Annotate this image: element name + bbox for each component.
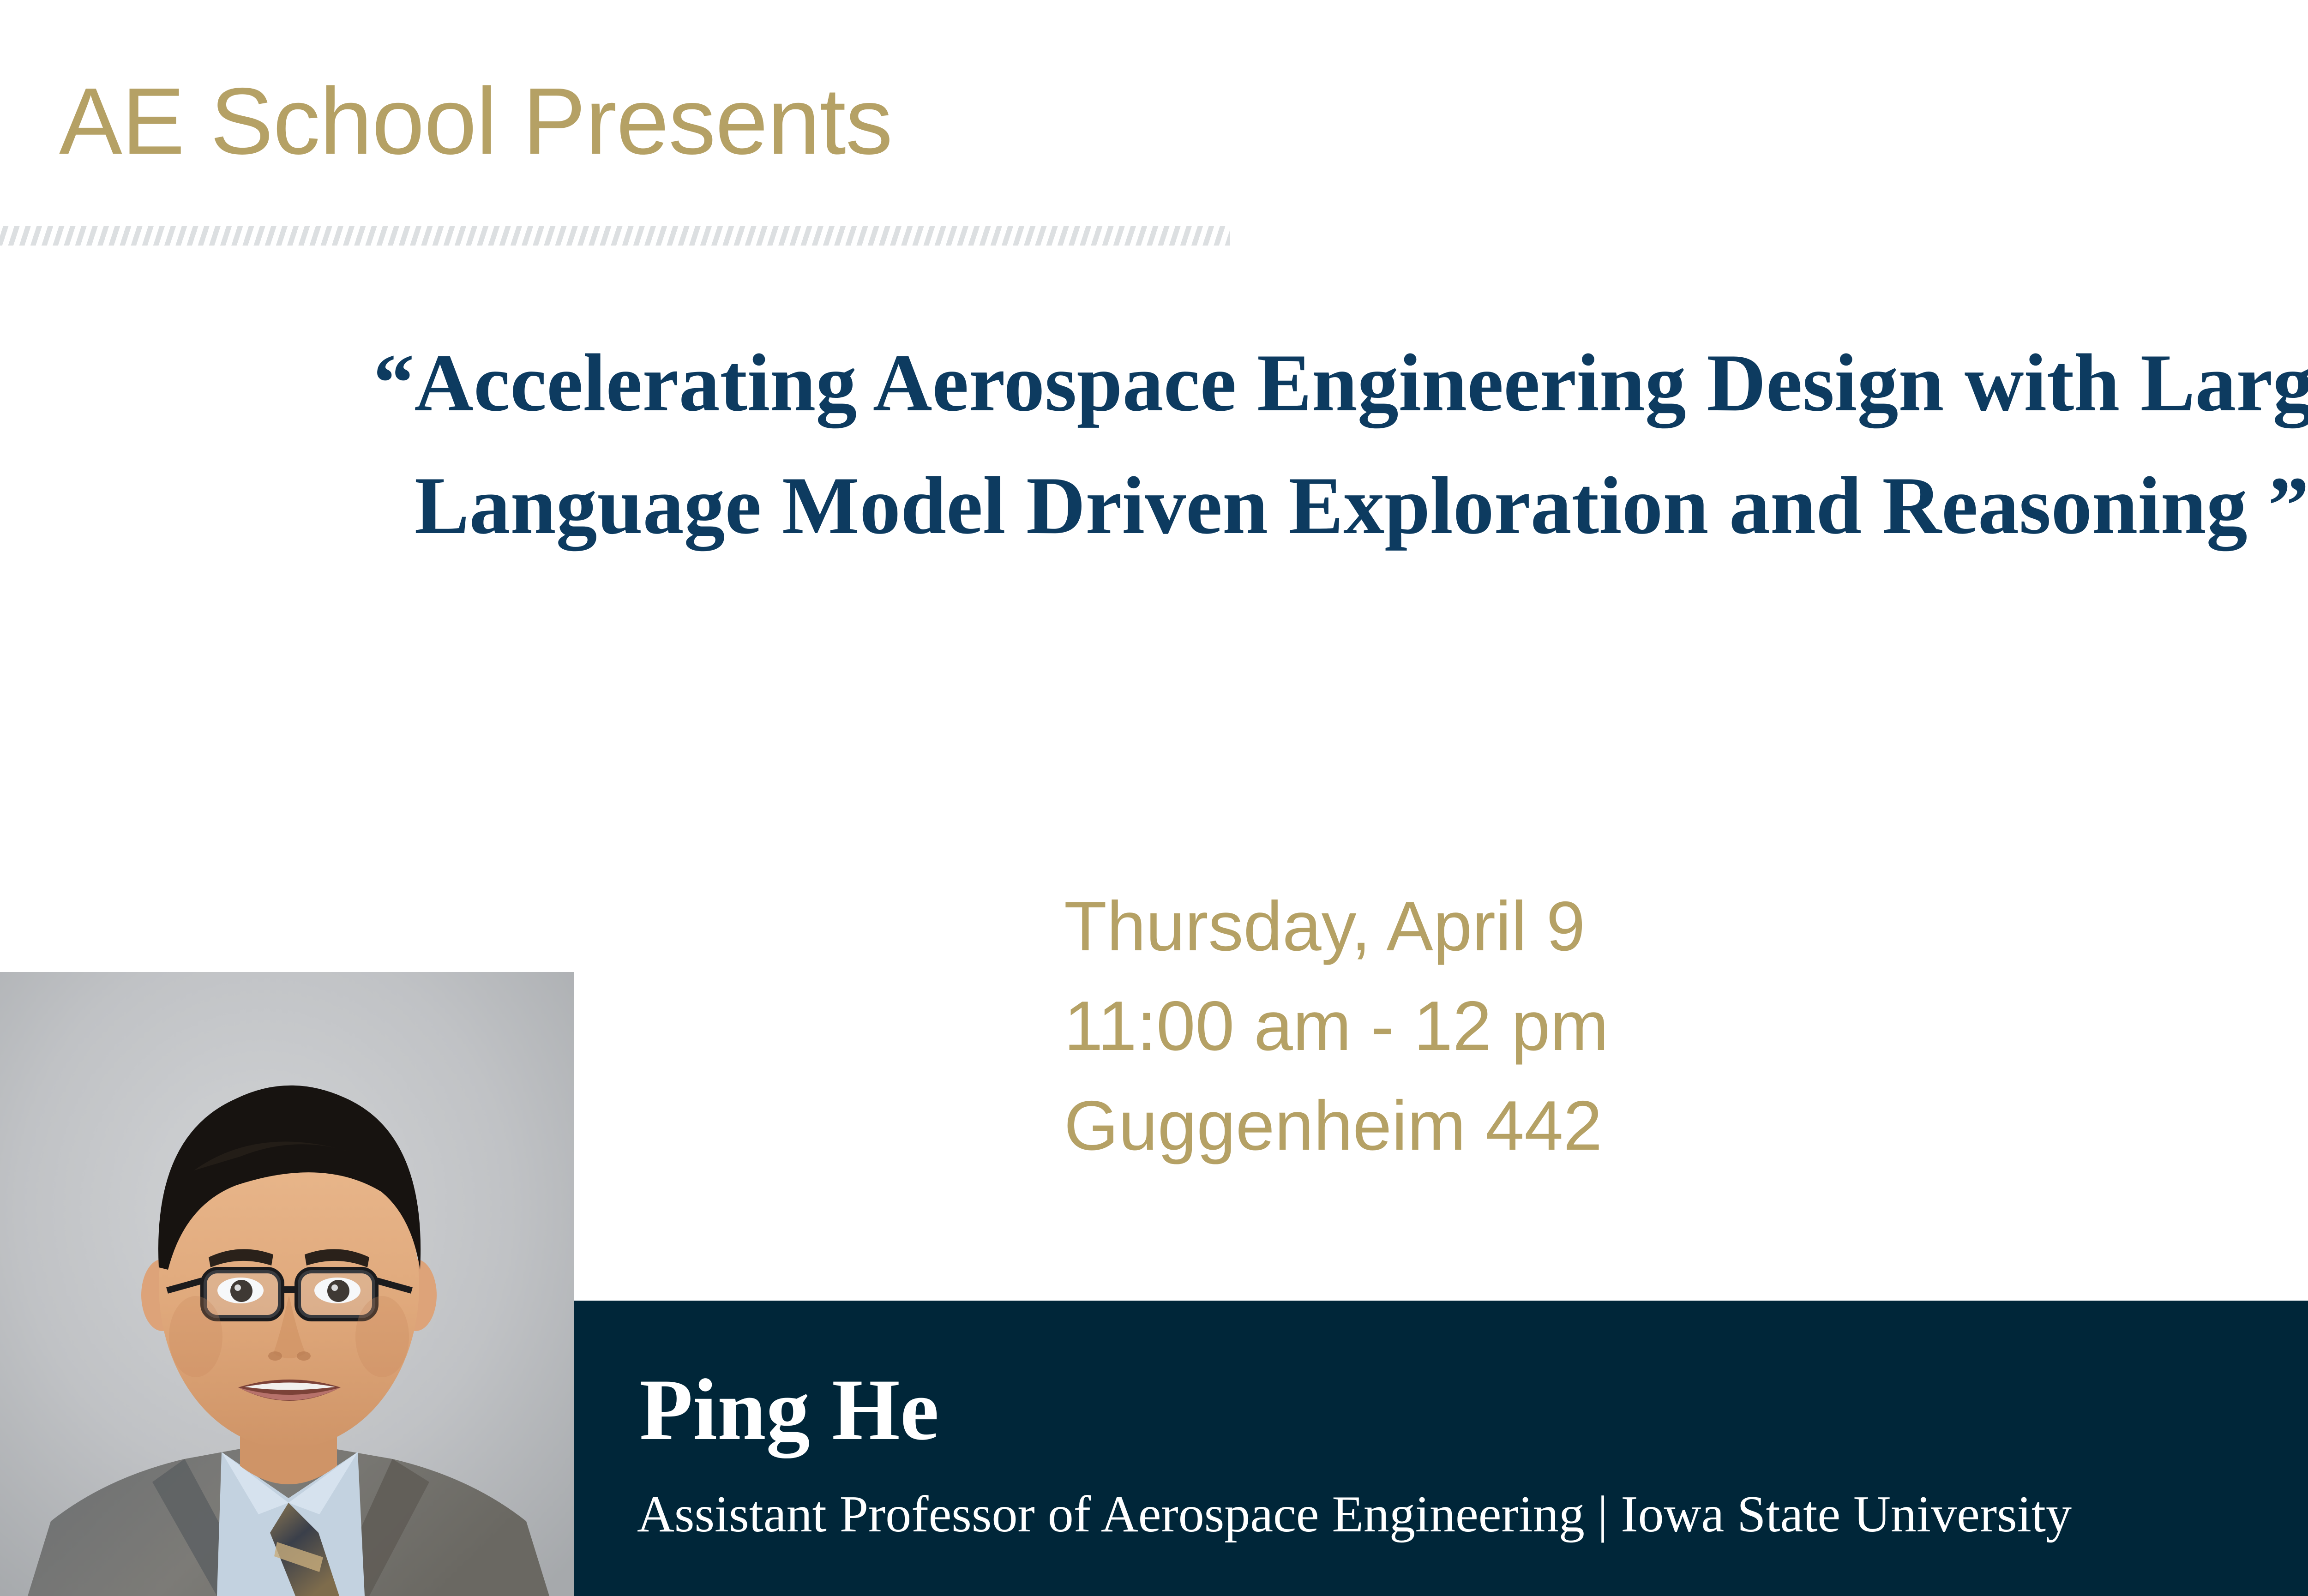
hatched-divider [0, 226, 1230, 246]
talk-title-line-1: “Accelerating Aerospace Engineering Desi… [92, 323, 2308, 442]
event-time: 11:00 am - 12 pm [1064, 977, 1609, 1076]
talk-title: “Accelerating Aerospace Engineering Desi… [92, 323, 2308, 565]
speaker-affiliation: Assistant Professor of Aerospace Enginee… [637, 1488, 2072, 1540]
event-date: Thursday, April 9 [1064, 877, 1609, 977]
page-eyebrow-title: AE School Presents [59, 72, 892, 171]
speaker-portrait [0, 972, 574, 1596]
speaker-name: Ping He [639, 1366, 939, 1454]
seminar-flyer: AE School Presents “Accelerating Aerospa… [0, 0, 2308, 1596]
event-details: Thursday, April 9 11:00 am - 12 pm Gugge… [1064, 877, 1609, 1176]
talk-title-line-2: Language Model Driven Exploration and Re… [92, 446, 2308, 565]
speaker-portrait-image [0, 972, 574, 1596]
event-location: Guggenheim 442 [1064, 1076, 1609, 1176]
